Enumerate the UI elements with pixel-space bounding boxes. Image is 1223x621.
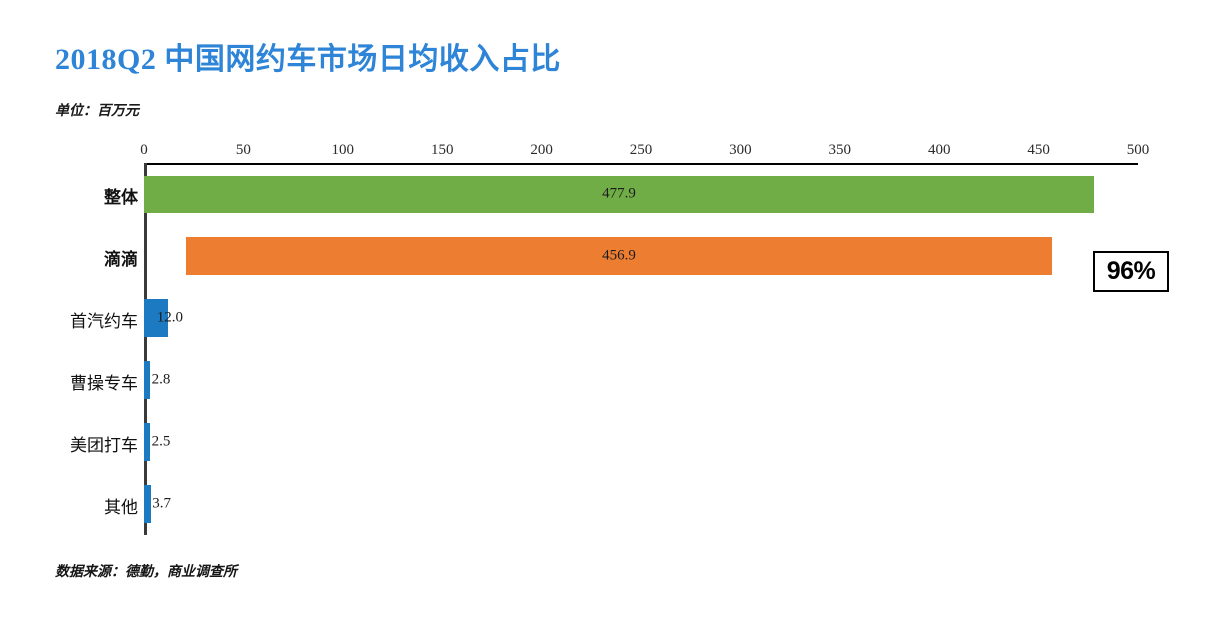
category-label-3: 曹操专车	[0, 369, 138, 394]
x-tick-label: 200	[530, 142, 553, 159]
x-tick-label: 0	[140, 142, 148, 159]
share-callout-badge: 96%	[1093, 251, 1169, 292]
category-label-1: 滴滴	[0, 245, 138, 270]
x-tick-label: 350	[829, 142, 852, 159]
bar-value-label-1: 456.9	[602, 248, 636, 265]
bar-value-label-0: 477.9	[602, 186, 636, 203]
x-tick-label: 300	[729, 142, 752, 159]
category-label-5: 其他	[0, 493, 138, 518]
bar-value-label-3: 2.8	[152, 372, 171, 389]
category-label-4: 美团打车	[0, 431, 138, 456]
bar-value-label-4: 2.5	[152, 434, 171, 451]
bar-5	[144, 485, 151, 523]
source-note: 数据来源：德勤，商业调查所	[55, 561, 237, 581]
category-axis-line	[144, 163, 147, 535]
x-tick-label: 100	[332, 142, 355, 159]
bar-value-label-5: 3.7	[152, 496, 171, 513]
plot-area: 050100150200250300350400450500 整体滴滴首汽约车曹…	[0, 0, 1223, 621]
x-tick-label: 500	[1127, 142, 1150, 159]
bar-value-label-2: 12.0	[157, 310, 183, 327]
bar-3	[144, 361, 150, 399]
bar-4	[144, 423, 150, 461]
x-tick-label: 450	[1027, 142, 1050, 159]
x-tick-label: 50	[236, 142, 251, 159]
category-label-0: 整体	[0, 183, 138, 208]
x-tick-label: 150	[431, 142, 454, 159]
x-tick-label: 400	[928, 142, 951, 159]
x-tick-label: 250	[630, 142, 653, 159]
category-label-2: 首汽约车	[0, 307, 138, 332]
x-axis-line	[144, 163, 1138, 165]
